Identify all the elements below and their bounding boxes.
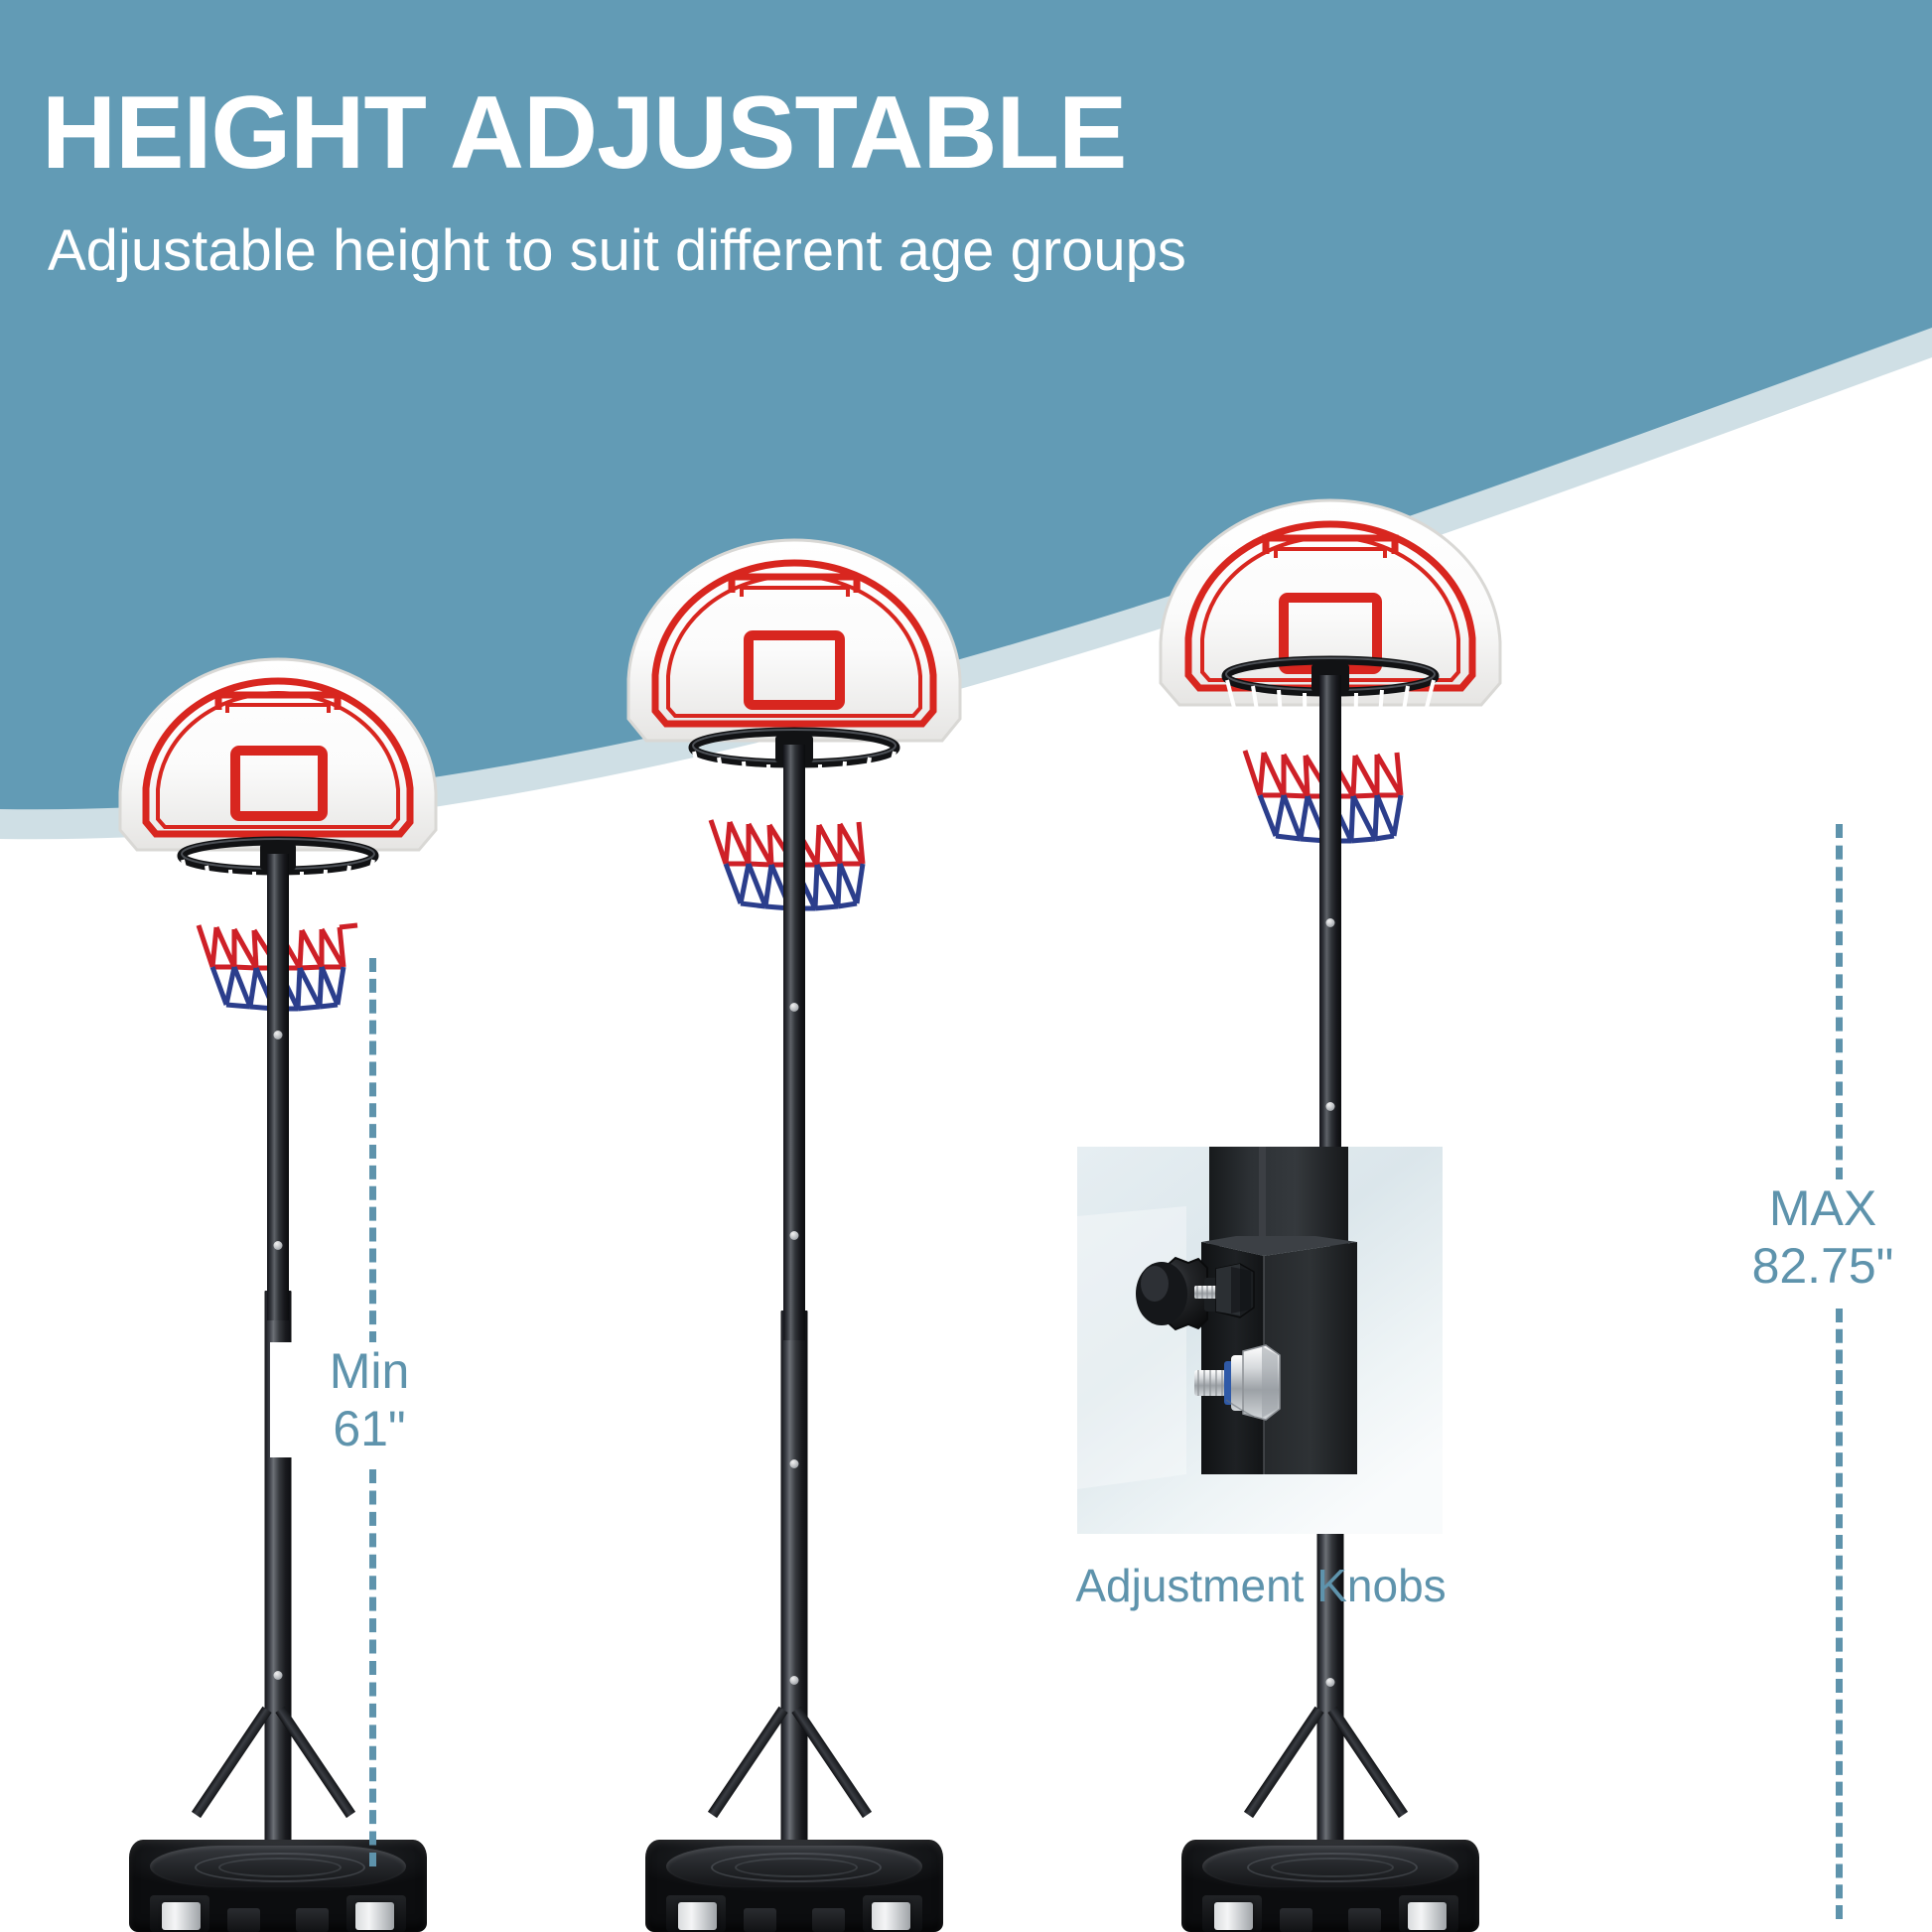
pole-upper-section [783,745,805,1340]
pole-screw [274,1671,283,1680]
max-height-dashed-line-lower [1836,1309,1843,1919]
wheel-right [1408,1902,1447,1930]
infographic-canvas: HEIGHT ADJUSTABLE Adjustable height to s… [0,0,1932,1932]
base-foot-right [1348,1908,1381,1932]
bolt-hex-nut-shade [1262,1346,1278,1418]
pole-screw [1326,918,1335,927]
adjustment-knobs-illustration [1077,1147,1443,1534]
backboard [624,536,964,751]
hoop-short [60,655,496,1932]
inset-background-streak [1077,1206,1186,1489]
pole-upper-section [267,854,289,1320]
max-height-label: MAX 82.75" [1714,1179,1932,1295]
page-title: HEIGHT ADJUSTABLE [42,81,1126,185]
pole-screw [1326,1678,1335,1687]
base-body [645,1840,943,1932]
page-subtitle: Adjustable height to suit different age … [48,220,1186,282]
pole-screw [274,1031,283,1039]
wheel-left [162,1902,201,1930]
backboard-graphic [624,536,964,751]
pole-screw [790,1459,799,1468]
base-foot-right [812,1908,845,1932]
hoop-medium [576,536,1013,1932]
base-foot-left [1280,1908,1312,1932]
knob-face-highlight [1141,1266,1169,1302]
pole-screw [790,1003,799,1012]
min-height-dashed-line-upper [369,958,376,1345]
backboard [116,655,440,860]
base-foot-right [296,1908,329,1932]
min-height-dashed-line-lower [369,1469,376,1866]
max-height-dashed-line-upper [1836,824,1843,1181]
post-upper-edge [1259,1147,1266,1246]
adjustment-knobs-photo [1077,1147,1443,1534]
base-body [1181,1840,1479,1932]
knob-hex-nut [1216,1264,1254,1317]
backboard-graphic [116,655,440,860]
wheel-left [1214,1902,1253,1930]
wheeled-base [1181,1783,1479,1932]
wheeled-base [645,1783,943,1932]
pole-screw [1326,1102,1335,1111]
base-foot-left [744,1908,776,1932]
wheel-right [355,1902,394,1930]
base-body [129,1840,427,1932]
base-foot-left [227,1908,260,1932]
pole-screw [790,1676,799,1685]
pole-screw [274,1241,283,1250]
wheel-left [678,1902,717,1930]
post-upper [1209,1147,1348,1246]
wheel-right [872,1902,910,1930]
min-height-label: Min 61" [270,1342,469,1457]
wheeled-base [129,1783,427,1932]
inset-caption: Adjustment Knobs [1047,1559,1474,1612]
pole-screw [790,1231,799,1240]
